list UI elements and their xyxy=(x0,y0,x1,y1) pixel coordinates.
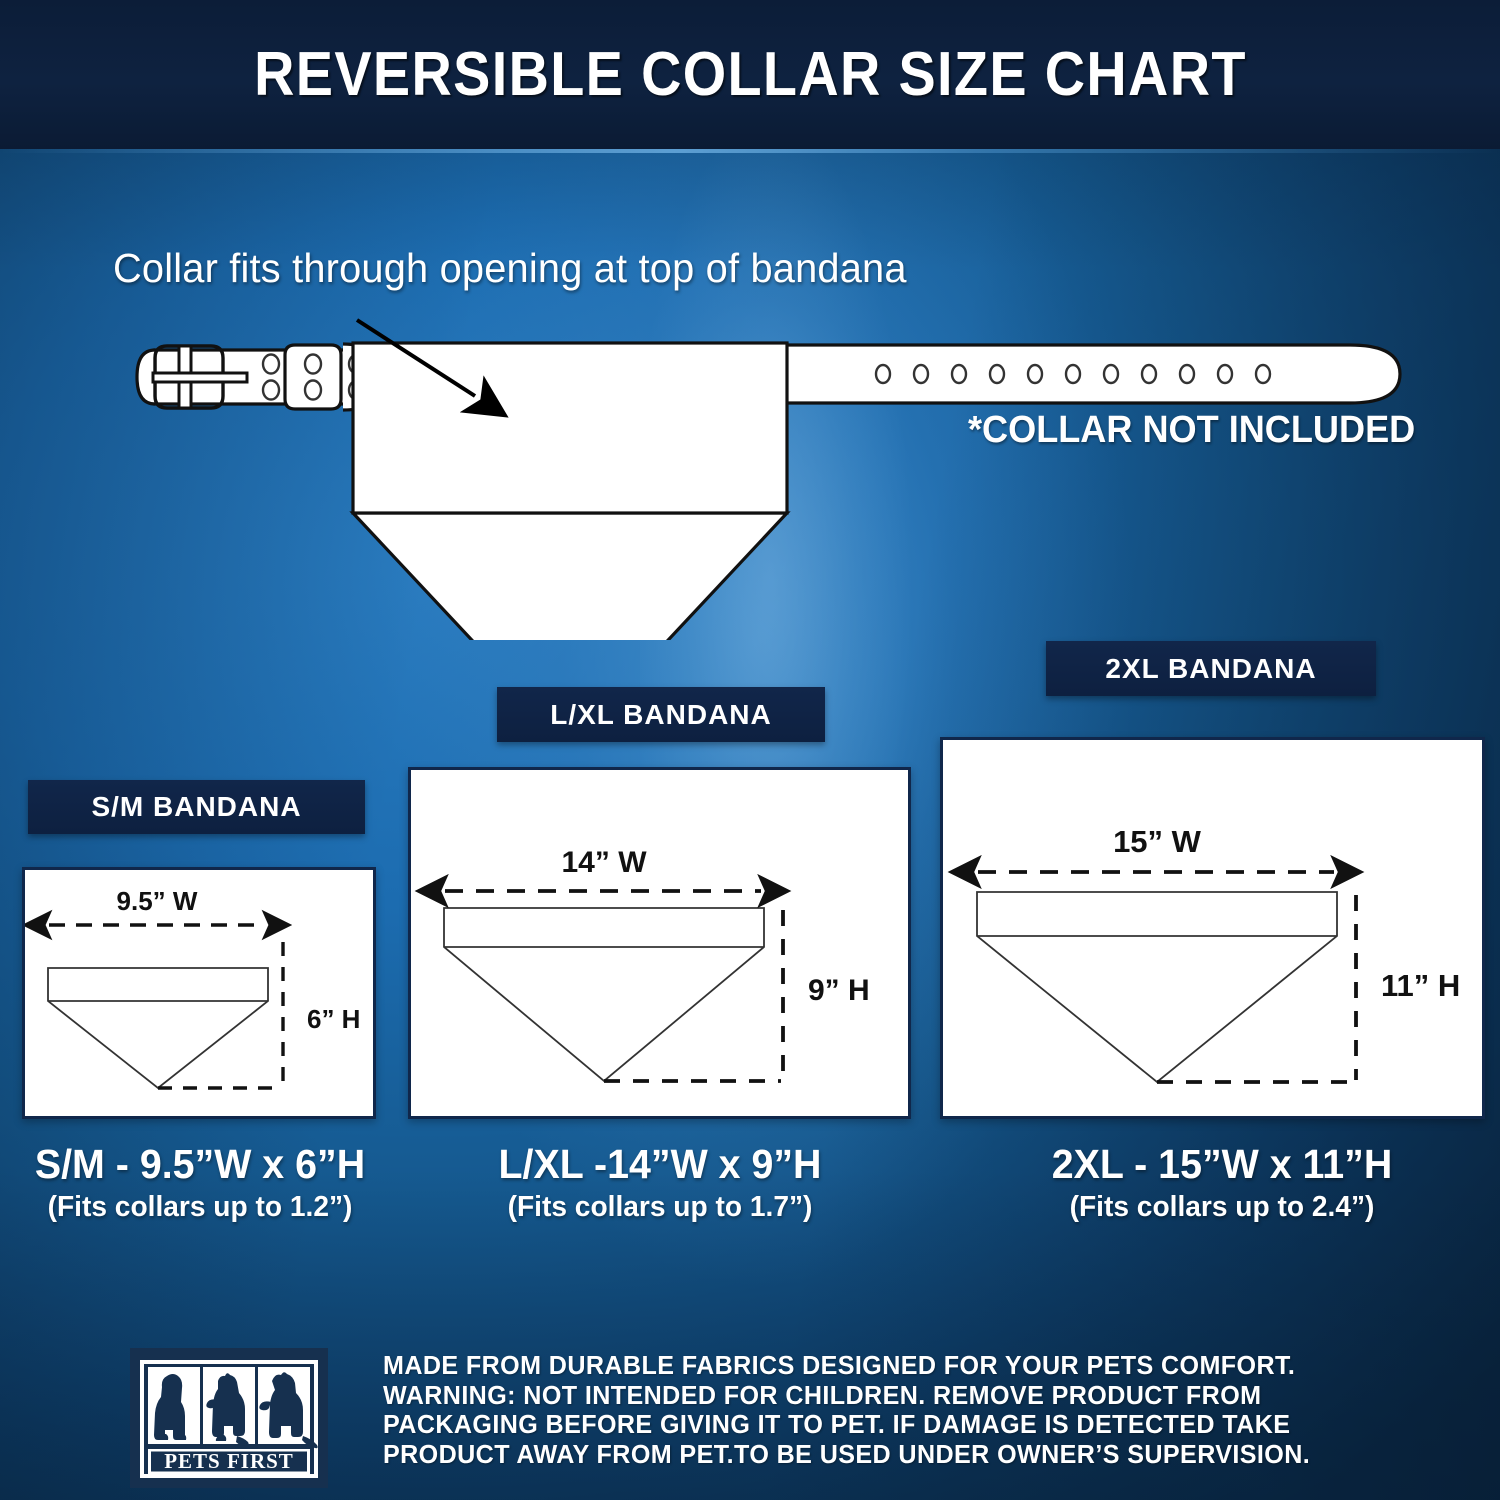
product-disclaimer: MADE FROM DURABLE FABRICS DESIGNED FOR Y… xyxy=(383,1352,1368,1470)
disclaimer-line-4: PRODUCT AWAY FROM PET.TO BE USED UNDER O… xyxy=(383,1441,1368,1471)
page-title: REVERSIBLE COLLAR SIZE CHART xyxy=(254,39,1247,110)
bandana-diagram-sm: 9.5” W 6” H xyxy=(25,870,373,1116)
size-box-sm: 9.5” W 6” H xyxy=(22,867,376,1119)
bandana-diagram-2xl: 15” W 11” H xyxy=(943,740,1482,1116)
size-badge-lxl: L/XL BANDANA xyxy=(497,687,825,742)
caption-main-lxl: L/XL -14”W x 9”H xyxy=(468,1141,852,1188)
disclaimer-line-2: WARNING: NOT INTENDED FOR CHILDREN. REMO… xyxy=(383,1382,1368,1412)
size-badge-sm: S/M BANDANA xyxy=(28,780,365,834)
header-underline-glow xyxy=(0,149,1500,153)
collar-bandana-illustration xyxy=(95,300,1415,640)
pets-first-logo: PETS FIRST xyxy=(130,1348,328,1488)
size-chart-canvas: REVERSIBLE COLLAR SIZE CHART Collar fits… xyxy=(0,0,1500,1500)
width-label-sm: 9.5” W xyxy=(117,886,198,916)
caption-main-2xl: 2XL - 15”W x 11”H xyxy=(1020,1141,1423,1188)
bandana-shape xyxy=(353,343,787,640)
size-box-2xl: 15” W 11” H xyxy=(940,737,1485,1119)
size-badge-label: L/XL BANDANA xyxy=(550,699,771,731)
bandana-diagram-lxl: 14” W 9” H xyxy=(411,770,908,1116)
width-label-2xl: 15” W xyxy=(1113,824,1202,859)
logo-wordmark: PETS FIRST xyxy=(164,1449,294,1473)
caption-sub-sm: (Fits collars up to 1.2”) xyxy=(6,1191,394,1224)
bandana-casing-opening xyxy=(353,343,787,513)
caption-sub-2xl: (Fits collars up to 2.4”) xyxy=(1018,1191,1425,1224)
collar-instruction-text: Collar fits through opening at top of ba… xyxy=(113,245,907,292)
buckle-keeper-loop xyxy=(285,345,341,409)
height-label-sm: 6” H xyxy=(307,1004,360,1034)
caption-sub-lxl: (Fits collars up to 1.7”) xyxy=(466,1191,854,1224)
height-label-2xl: 11” H xyxy=(1381,968,1460,1003)
disclaimer-line-3: PACKAGING BEFORE GIVING IT TO PET. IF DA… xyxy=(383,1411,1368,1441)
page-header: REVERSIBLE COLLAR SIZE CHART xyxy=(0,0,1500,149)
width-label-lxl: 14” W xyxy=(561,846,647,879)
size-box-lxl: 14” W 9” H xyxy=(408,767,911,1119)
size-badge-2xl: 2XL BANDANA xyxy=(1046,641,1376,696)
size-badge-label: 2XL BANDANA xyxy=(1105,653,1316,685)
disclaimer-line-1: MADE FROM DURABLE FABRICS DESIGNED FOR Y… xyxy=(383,1352,1368,1382)
height-label-lxl: 9” H xyxy=(808,974,870,1007)
size-badge-label: S/M BANDANA xyxy=(91,791,301,823)
caption-main-sm: S/M - 9.5”W x 6”H xyxy=(8,1141,392,1188)
